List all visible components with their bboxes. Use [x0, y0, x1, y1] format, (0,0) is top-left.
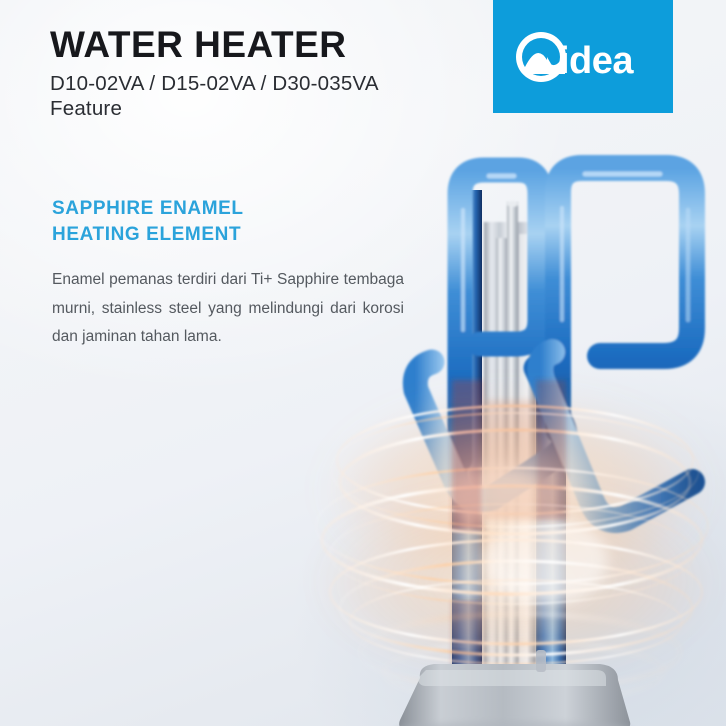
midea-wave-icon: idea — [507, 27, 659, 87]
brand-logo: idea — [493, 0, 673, 113]
feature-heading-line-2: HEATING ELEMENT — [52, 222, 404, 248]
heat-glow-swirl — [315, 394, 715, 702]
poster-canvas: WATER HEATER D10-02VA / D15-02VA / D30-0… — [0, 0, 726, 726]
feature-description: Enamel pemanas terdiri dari Ti+ Sapphire… — [52, 266, 404, 351]
feature-label: Feature — [50, 96, 470, 122]
header-text-block: WATER HEATER D10-02VA / D15-02VA / D30-0… — [50, 26, 470, 122]
model-numbers: D10-02VA / D15-02VA / D30-035VA — [50, 71, 470, 97]
heater-base — [394, 664, 634, 726]
feature-text-block: SAPPHIRE ENAMEL HEATING ELEMENT Enamel p… — [52, 196, 404, 351]
metal-column — [484, 222, 536, 710]
heating-element-loops — [415, 168, 692, 520]
page-title: WATER HEATER — [50, 26, 470, 65]
background-shadow-wash — [290, 363, 726, 726]
feature-heading-line-1: SAPPHIRE ENAMEL — [52, 196, 404, 222]
column-heat-reflection — [452, 380, 566, 670]
feature-heading: SAPPHIRE ENAMEL HEATING ELEMENT — [52, 196, 404, 248]
base-pin — [536, 650, 546, 672]
svg-text:idea: idea — [559, 40, 634, 82]
steel-rod — [507, 201, 518, 712]
heating-element-legs — [452, 190, 566, 710]
